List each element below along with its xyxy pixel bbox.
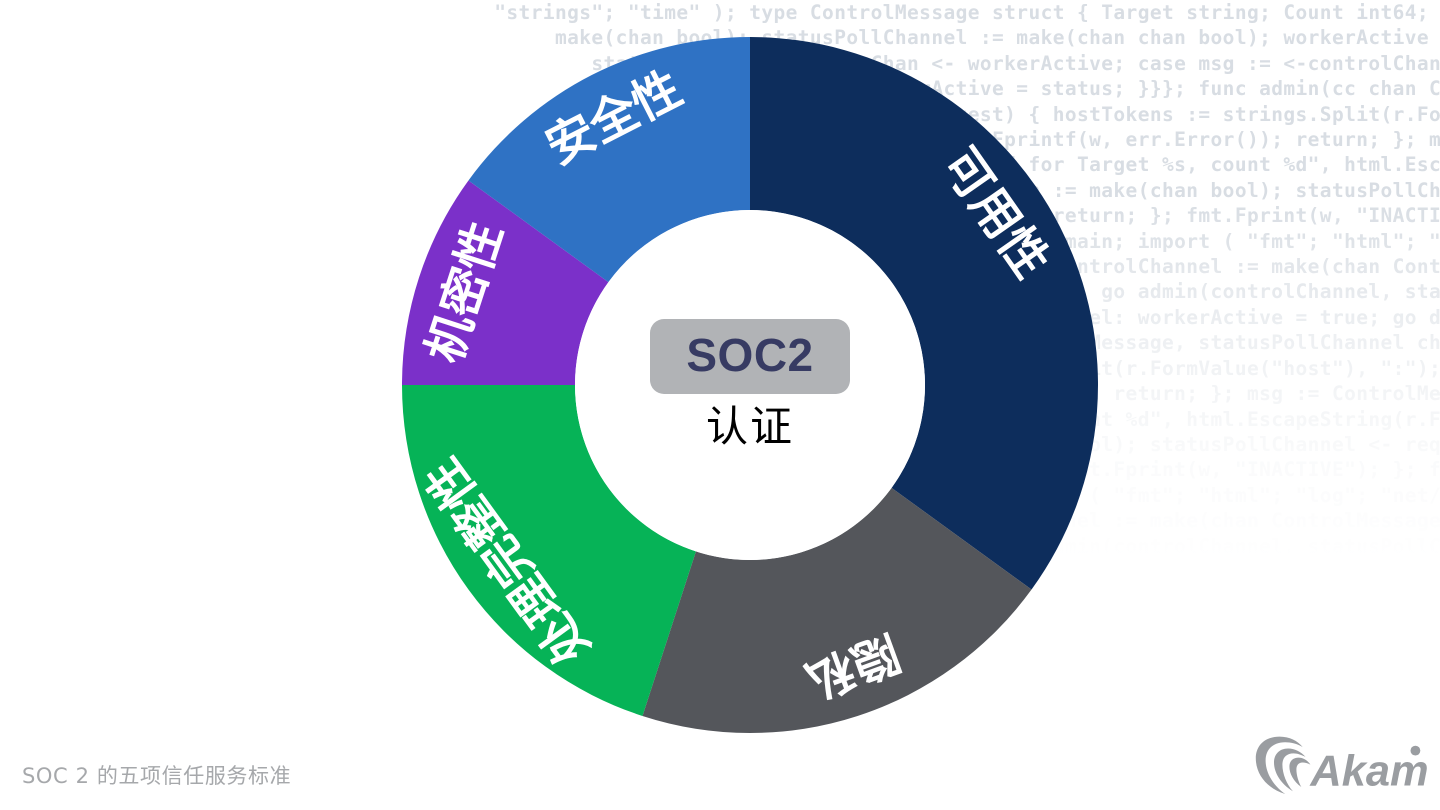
akamai-logo-svg: Akamai	[1253, 735, 1428, 797]
akamai-dot-icon	[1411, 746, 1421, 756]
donut-center-hub: SOC2 认证	[575, 210, 925, 560]
slide-caption: SOC 2 的五项信任服务标准	[22, 760, 291, 790]
code-line: "strings"; "time" ); type ControlMessage…	[470, 0, 1440, 25]
akamai-wordmark-text: Akamai	[1309, 748, 1428, 796]
akamai-wordmark: Akamai	[1309, 746, 1428, 796]
akamai-wave-icon	[1256, 737, 1311, 794]
akamai-logo: Akamai	[1253, 735, 1428, 797]
certification-label: 认证	[706, 404, 794, 450]
soc2-badge: SOC2	[650, 319, 849, 394]
slide-root: "strings"; "time" ); type ControlMessage…	[0, 0, 1440, 810]
